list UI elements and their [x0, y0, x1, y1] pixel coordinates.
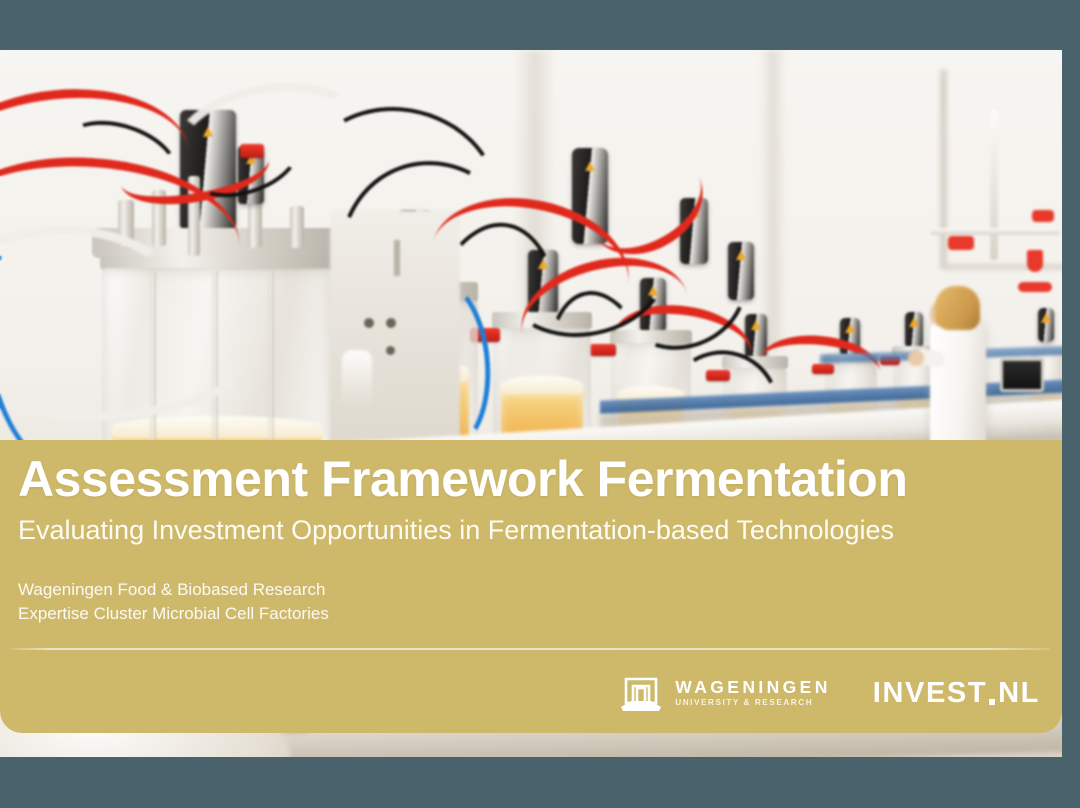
vessel-port: [290, 206, 304, 248]
divider: [10, 648, 1050, 650]
wall-valve-icon: [1018, 282, 1052, 292]
page-subtitle: Evaluating Investment Opportunities in F…: [18, 514, 1042, 548]
stirrer-motor: [905, 312, 923, 348]
researcher-hair: [935, 286, 980, 330]
researcher-hand: [908, 350, 924, 366]
org-line-primary: Wageningen Food & Biobased Research: [18, 578, 329, 602]
investnl-separator-icon: [989, 699, 995, 705]
wur-arch-mark-icon: [619, 673, 663, 713]
title-overlay-panel: Assessment Framework Fermentation Evalua…: [0, 440, 1062, 733]
control-monitor: [1000, 358, 1044, 392]
wur-tagline: UNIVERSITY & RESEARCH: [675, 699, 831, 707]
stirrer-motor: [1038, 308, 1054, 342]
wur-wordmark: WAGENINGEN UNIVERSITY & RESEARCH: [675, 679, 831, 708]
page-title: Assessment Framework Fermentation: [18, 452, 1042, 506]
wall-pipe: [930, 228, 1060, 235]
wur-name: WAGENINGEN: [675, 679, 831, 697]
wageningen-logo: WAGENINGEN UNIVERSITY & RESEARCH: [619, 673, 831, 713]
investnl-suffix: NL: [998, 677, 1040, 710]
wall-panel: [760, 50, 786, 350]
wall-valve-icon: [1027, 250, 1043, 272]
org-line-secondary: Expertise Cluster Microbial Cell Factori…: [18, 602, 329, 626]
title-block: Assessment Framework Fermentation Evalua…: [18, 452, 1042, 548]
organisation-lines: Wageningen Food & Biobased Research Expe…: [18, 578, 329, 626]
logo-bar: WAGENINGEN UNIVERSITY & RESEARCH INVEST …: [0, 662, 1062, 724]
wall-valve-icon: [948, 236, 974, 250]
sample-bottle: [342, 350, 372, 410]
wall-pipe: [990, 110, 998, 260]
investnl-logo: INVEST NL: [873, 677, 1040, 710]
slide-root: Assessment Framework Fermentation Evalua…: [0, 0, 1080, 808]
investnl-prefix: INVEST: [873, 677, 987, 710]
wall-valve-icon: [1032, 210, 1054, 222]
